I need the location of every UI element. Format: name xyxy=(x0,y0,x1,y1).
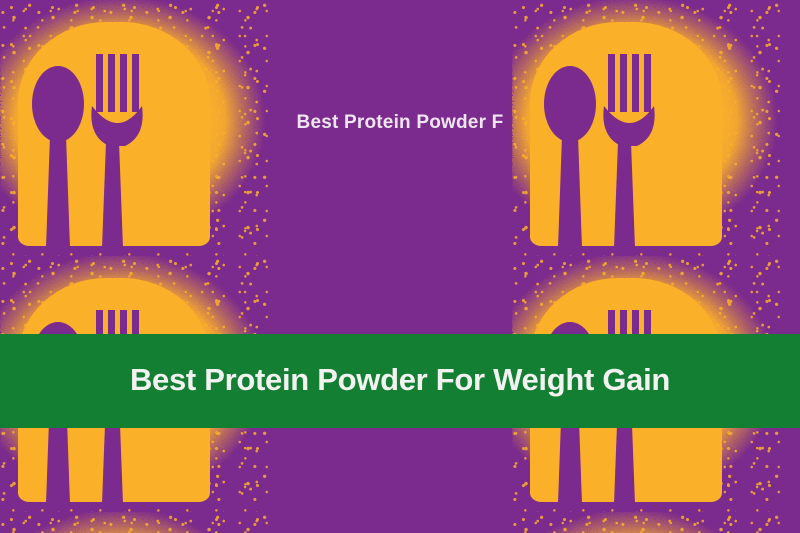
background-tile xyxy=(0,0,512,256)
cutlery-silhouette xyxy=(512,0,780,256)
background-tile-grid xyxy=(0,0,800,533)
article-featured-image: Best Protein Powder F Best Protein Powde… xyxy=(0,0,800,533)
background-tile xyxy=(512,0,800,256)
background-tile xyxy=(512,512,800,533)
title-banner: Best Protein Powder For Weight Gain xyxy=(0,334,800,428)
page-title: Best Protein Powder For Weight Gain xyxy=(130,364,670,395)
cutlery-silhouette xyxy=(0,512,268,533)
background-tile xyxy=(0,512,512,533)
cutlery-silhouette xyxy=(512,512,780,533)
cutlery-silhouette xyxy=(0,0,268,256)
